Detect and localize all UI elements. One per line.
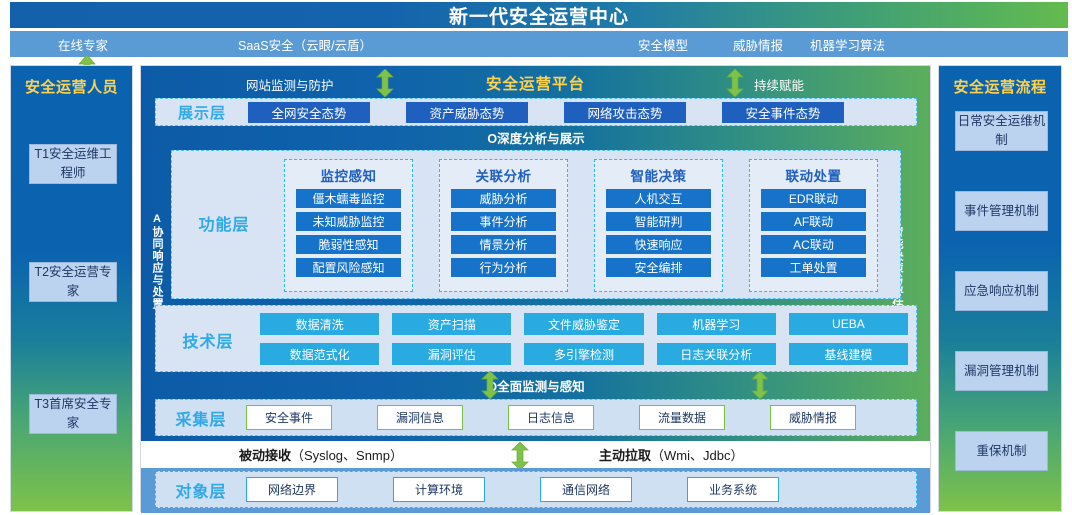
process-vuln-mgmt[interactable]: 漏洞管理机制 <box>955 351 1048 391</box>
label-continuous-empower: 持续赋能 <box>754 75 804 94</box>
band-full-monitoring: O全面监测与感知 <box>155 375 917 396</box>
object-item-business-system[interactable]: 业务系统 <box>687 477 779 502</box>
role-t3[interactable]: T3首席安全专家 <box>29 394 117 434</box>
func-item-botnet-monitor[interactable]: 僵木蠕毒监控 <box>296 189 401 208</box>
process-emergency-response[interactable]: 应急响应机制 <box>955 271 1048 311</box>
tech-item-machine-learning[interactable]: 机器学习 <box>657 313 776 335</box>
process-daily-ops[interactable]: 日常安全运维机制 <box>955 111 1048 151</box>
role-t1[interactable]: T1安全运维工程师 <box>29 144 117 184</box>
collect-item-log-info[interactable]: 日志信息 <box>508 405 594 430</box>
func-item-human-machine[interactable]: 人机交互 <box>606 189 711 208</box>
func-item-ticket-handling[interactable]: 工单处置 <box>761 258 866 277</box>
label-site-monitoring: 网站监测与防护 <box>246 75 334 94</box>
double-arrow-updown-icon-bottom <box>511 442 529 468</box>
tech-item-log-correlation[interactable]: 日志关联分析 <box>657 343 776 365</box>
label-online-expert: 在线专家 <box>58 35 108 54</box>
collect-item-security-events[interactable]: 安全事件 <box>246 405 332 430</box>
left-panel-security-staff: 安全运营人员 T1安全运维工程师 T2安全运营专家 T3首席安全专家 <box>10 65 133 512</box>
left-panel-title: 安全运营人员 <box>11 76 132 97</box>
tile-attack-posture[interactable]: 网络攻击态势 <box>564 102 686 123</box>
tech-layer-wrap: 技术层 数据清洗 资产扫描 文件威胁鉴定 机器学习 UEBA 数据范式化 漏洞评… <box>155 305 917 372</box>
func-item-vulnerability-sense[interactable]: 脆弱性感知 <box>296 235 401 254</box>
label-active-pull: 主动拉取（Wmi、Jdbc） <box>599 445 743 464</box>
tech-item-ueba[interactable]: UEBA <box>789 313 908 335</box>
func-item-scenario-analysis[interactable]: 情景分析 <box>451 235 556 254</box>
right-panel-title: 安全运营流程 <box>939 76 1061 97</box>
label-threat-intel: 威胁情报 <box>733 35 783 54</box>
function-column-linkage: 联动处置 EDR联动 AF联动 AC联动 工单处置 <box>749 159 878 292</box>
tech-item-file-threat-id[interactable]: 文件威胁鉴定 <box>524 313 643 335</box>
func-item-config-risk-sense[interactable]: 配置风险感知 <box>296 258 401 277</box>
tile-network-security-posture[interactable]: 全网安全态势 <box>248 102 370 123</box>
display-layer-strip: 展示层 全网安全态势 资产威胁态势 网络攻击态势 安全事件态势 <box>155 98 917 126</box>
center-panel-header: 网站监测与防护 安全运营平台 持续赋能 <box>141 66 930 99</box>
function-column-title-correlation: 关联分析 <box>440 165 567 185</box>
func-item-unknown-threat-monitor[interactable]: 未知威胁监控 <box>296 212 401 231</box>
tile-incident-posture[interactable]: 安全事件态势 <box>722 102 844 123</box>
collect-item-threat-intel[interactable]: 威胁情报 <box>770 405 856 430</box>
collect-layer-name: 采集层 <box>156 406 246 430</box>
tech-item-data-cleaning[interactable]: 数据清洗 <box>260 313 379 335</box>
func-item-threat-analysis[interactable]: 威胁分析 <box>451 189 556 208</box>
func-item-ac-linkage[interactable]: AC联动 <box>761 235 866 254</box>
label-passive-receive: 被动接收（Syslog、Snmp） <box>239 445 403 464</box>
center-panel-platform: 网站监测与防护 安全运营平台 持续赋能 A协同响应与处置 D智能决策与评估 展示… <box>140 65 931 512</box>
tech-layer-name: 技术层 <box>168 328 248 352</box>
object-item-comm-network[interactable]: 通信网络 <box>540 477 632 502</box>
collect-item-vuln-info[interactable]: 漏洞信息 <box>377 405 463 430</box>
function-column-correlation: 关联分析 威胁分析 事件分析 情景分析 行为分析 <box>439 159 568 292</box>
label-ml-algorithm: 机器学习算法 <box>810 35 885 54</box>
display-layer-name: 展示层 <box>156 102 248 123</box>
page-title: 新一代安全运营中心 <box>449 2 629 29</box>
double-arrow-updown-icon-mid-left <box>481 371 499 397</box>
func-item-fast-response[interactable]: 快速响应 <box>606 235 711 254</box>
process-incident-mgmt[interactable]: 事件管理机制 <box>955 191 1048 231</box>
function-layer-wrap: 功能层 监控感知 僵木蠕毒监控 未知威胁监控 脆弱性感知 配置风险感知 关联分析… <box>171 150 901 299</box>
tech-layer-grid: 数据清洗 资产扫描 文件威胁鉴定 机器学习 UEBA 数据范式化 漏洞评估 多引… <box>260 313 908 365</box>
function-column-title-monitoring: 监控感知 <box>285 165 412 185</box>
transport-band: 被动接收（Syslog、Snmp） 主动拉取（Wmi、Jdbc） <box>141 441 930 468</box>
func-item-edr-linkage[interactable]: EDR联动 <box>761 189 866 208</box>
label-security-model: 安全模型 <box>638 35 688 54</box>
object-layer-wrap: 对象层 网络边界 计算环境 通信网络 业务系统 <box>155 471 917 508</box>
double-arrow-updown-icon-left <box>376 69 394 95</box>
func-item-behavior-analysis[interactable]: 行为分析 <box>451 258 556 277</box>
tech-item-asset-scan[interactable]: 资产扫描 <box>392 313 511 335</box>
right-panel-security-process: 安全运营流程 日常安全运维机制 事件管理机制 应急响应机制 漏洞管理机制 重保机… <box>938 65 1062 512</box>
func-item-event-analysis[interactable]: 事件分析 <box>451 212 556 231</box>
double-arrow-updown-icon-mid-right <box>751 371 769 397</box>
tech-item-baseline-modeling[interactable]: 基线建模 <box>789 343 908 365</box>
label-saas-security: SaaS安全（云眼/云盾） <box>238 35 372 54</box>
page-title-bar: 新一代安全运营中心 <box>10 2 1068 28</box>
tile-asset-threat-posture[interactable]: 资产威胁态势 <box>406 102 528 123</box>
soc-architecture-diagram: 新一代安全运营中心 在线专家 SaaS安全（云眼/云盾） 安全模型 威胁情报 机… <box>0 0 1072 515</box>
function-column-title-decision: 智能决策 <box>595 165 722 185</box>
func-item-security-orchestration[interactable]: 安全编排 <box>606 258 711 277</box>
function-layer-name: 功能层 <box>184 211 264 235</box>
object-layer-name: 对象层 <box>156 478 246 502</box>
func-item-af-linkage[interactable]: AF联动 <box>761 212 866 231</box>
process-major-protection[interactable]: 重保机制 <box>955 431 1048 471</box>
function-column-decision: 智能决策 人机交互 智能研判 快速响应 安全编排 <box>594 159 723 292</box>
func-item-smart-judgement[interactable]: 智能研判 <box>606 212 711 231</box>
object-item-network-border[interactable]: 网络边界 <box>246 477 338 502</box>
band-deep-analysis: O深度分析与展示 <box>155 127 917 148</box>
collect-layer-wrap: 采集层 安全事件 漏洞信息 日志信息 流量数据 威胁情报 <box>155 399 917 436</box>
tech-item-vuln-assessment[interactable]: 漏洞评估 <box>392 343 511 365</box>
platform-title: 安全运营平台 <box>486 72 585 94</box>
function-column-monitoring: 监控感知 僵木蠕毒监控 未知威胁监控 脆弱性感知 配置风险感知 <box>284 159 413 292</box>
sub-header-bar: 在线专家 SaaS安全（云眼/云盾） 安全模型 威胁情报 机器学习算法 <box>10 31 1068 57</box>
double-arrow-updown-icon-right <box>726 69 744 95</box>
object-item-compute-env[interactable]: 计算环境 <box>393 477 485 502</box>
function-column-title-linkage: 联动处置 <box>750 165 877 185</box>
collect-item-traffic-data[interactable]: 流量数据 <box>639 405 725 430</box>
tech-item-data-normalization[interactable]: 数据范式化 <box>260 343 379 365</box>
tech-item-multi-engine-detect[interactable]: 多引擎检测 <box>524 343 643 365</box>
role-t2[interactable]: T2安全运营专家 <box>29 262 117 302</box>
